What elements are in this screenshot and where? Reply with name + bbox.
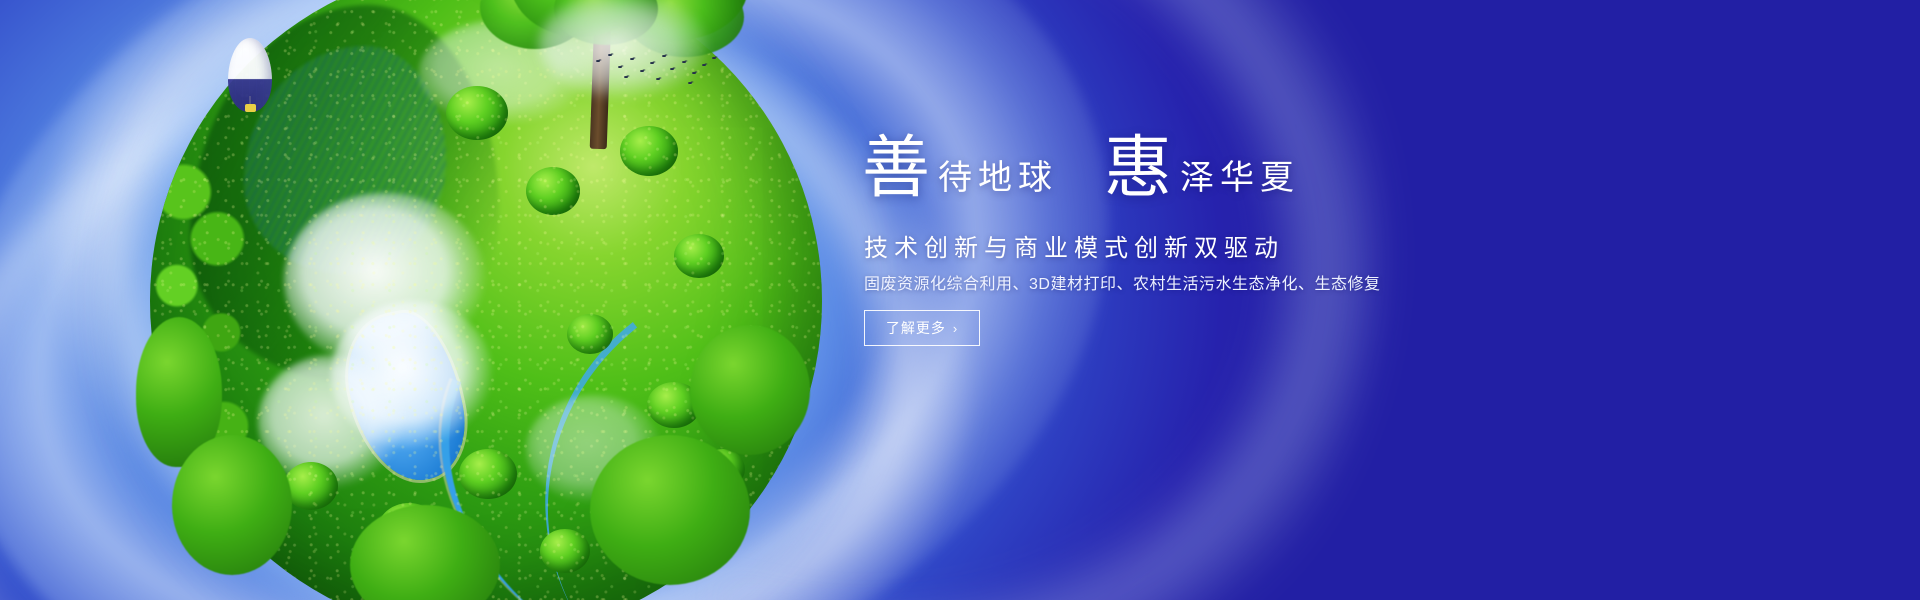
foreground-tree xyxy=(172,435,292,575)
headline-part1-small: 待地球 xyxy=(930,162,1058,202)
foreground-tree xyxy=(590,435,750,585)
bird-flock xyxy=(592,52,722,92)
headline-part2-small: 泽华夏 xyxy=(1172,162,1300,202)
hot-air-balloon-icon xyxy=(228,38,272,112)
hero-subtitle: 技术创新与商业模式创新双驱动 xyxy=(864,228,1284,263)
headline-part1-big: 善 xyxy=(862,134,930,202)
learn-more-label: 了解更多 xyxy=(886,318,946,338)
tree-canopy xyxy=(284,462,338,510)
tree-canopy xyxy=(459,449,517,499)
hero-description: 固废资源化综合利用、3D建材打印、农村生活污水生态净化、生态修复 xyxy=(864,270,1380,294)
hero-banner: 善 待地球 惠 泽华夏 技术创新与商业模式创新双驱动 固废资源化综合利用、3D建… xyxy=(0,0,1920,600)
foreground-tree xyxy=(690,325,810,455)
tree-canopy xyxy=(567,314,613,354)
tree-canopy xyxy=(674,234,724,278)
page-title: 善 待地球 惠 泽华夏 xyxy=(862,134,1300,202)
cloud-puff xyxy=(331,301,492,449)
cloud-puff xyxy=(284,193,486,368)
balloon-basket xyxy=(245,104,256,112)
hero-content: 善 待地球 惠 泽华夏 技术创新与商业模式创新双驱动 固废资源化综合利用、3D建… xyxy=(862,0,1622,600)
mountain-ridge-texture xyxy=(244,46,446,274)
chevron-right-icon: › xyxy=(953,322,958,335)
tree-canopy xyxy=(540,529,590,573)
lake-water xyxy=(335,305,475,492)
headline-part2-big: 惠 xyxy=(1104,134,1172,202)
learn-more-button[interactable]: 了解更多 › xyxy=(864,310,980,346)
